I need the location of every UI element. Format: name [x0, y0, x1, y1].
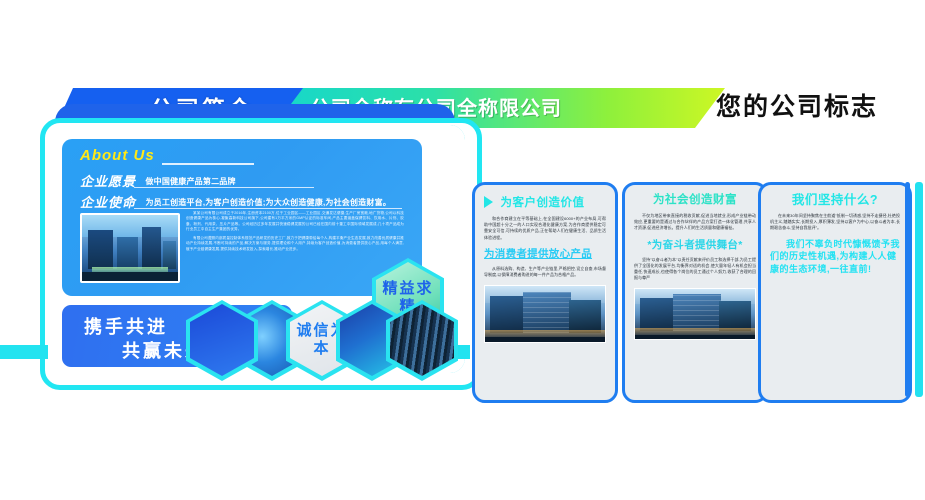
panel-social-wealth[interactable]: 为社会创造财富 不仅为地区带来直接的税收贡献,促进当地就业,形成产业链带动效应,…: [622, 182, 768, 403]
panel-2-body-1: 不仅为地区带来直接的税收贡献,促进当地就业,形成产业链带动效应,更重要的是通过与…: [634, 213, 756, 232]
play-arrow-icon: [484, 196, 493, 208]
panel-3-body-1: 在未来30年间坚持聚焦在主航道"抵制一切诱惑,坚持不走捷径,杜绝投机主义,踏踏实…: [770, 213, 900, 232]
panel-1-subheading: 为消费者提供放心产品: [484, 247, 606, 261]
cyan-tail-left: [0, 345, 48, 359]
panel-1-inner: 为客户创造价值 和合作商建立在平等基础上,在全国建设6000+的产业布局,可帮助…: [475, 185, 615, 400]
vision-label: 企业愿景: [80, 171, 136, 190]
about-us-card: About Us 企业愿景 做中国健康产品第二品牌 企业使命 为员工创造平台,为…: [62, 139, 422, 296]
panel-customer-value[interactable]: 为客户创造价值 和合作商建立在平等基础上,在全国建设6000+的产业布局,可帮助…: [472, 182, 618, 403]
poster-canvas: 公司简介 公司全称有公司全称限公司 您的公司标志 About Us 企业愿景 做…: [0, 0, 925, 500]
photo-building-3: [142, 227, 161, 269]
panel-3-highlight: 我们不辜负时代慷慨馈予我们的历史性机遇,为构建人人健康的生态环境,一往直前!: [770, 238, 900, 276]
mission-value: 为员工创造平台,为客户创造价值;为大众创造健康,为社会创造财富。: [140, 197, 391, 208]
panel-2-photo-ground: [635, 335, 755, 340]
right-edge-blue-bar: [905, 182, 910, 397]
slogan-line-1: 携手共进: [84, 313, 168, 339]
right-edge-cyan-bar: [915, 182, 923, 397]
panel-1-photo-building-left: [490, 296, 526, 333]
panel-1-photo: [484, 285, 606, 343]
panel-1-photo-windows: [523, 292, 571, 333]
panel-2-photo-windows: [673, 294, 721, 331]
panel-2-body-2: 坚持"以奋斗者为本"以责任贡献来评价员工和选择干部,为员工提供了全国化的发展平台…: [634, 257, 756, 282]
panel-1-heading-row: 为客户创造价值: [484, 193, 606, 211]
mission-underline: [134, 208, 402, 209]
photo-building-4: [163, 241, 176, 269]
panel-3-inner: 我们坚持什么? 在未来30年间坚持聚焦在主航道"抵制一切诱惑,坚持不走捷径,杜绝…: [761, 185, 909, 400]
about-us-label: About Us: [80, 147, 155, 164]
photo-ground: [82, 272, 178, 281]
company-paragraph-1: 某某公司有限公司成立于2016年,注册资本2100万,位于工业园区——工业园区,…: [186, 211, 404, 232]
vision-row: 企业愿景 做中国健康产品第二品牌: [80, 171, 236, 191]
panel-1-body-2: 从原料选购、构造、生产等产业链里,严格把控,设立自查,市场督导制度,以保障消费者…: [484, 266, 606, 278]
panel-2-heading: 为社会创造财富: [634, 193, 756, 208]
logo-placeholder: 您的公司标志: [716, 86, 916, 128]
photo-building-1: [88, 230, 113, 270]
mission-row: 企业使命 为员工创造平台,为客户创造价值;为大众创造健康,为社会创造财富。: [80, 192, 391, 212]
panel-1-photo-building-right: [569, 300, 601, 334]
vision-underline: [134, 187, 314, 188]
panel-1-photo-ground: [485, 337, 605, 342]
photo-building-2: [117, 237, 138, 269]
panel-1-body-1: 和合作商建立在平等基础上,在全国建设6000+的产业布局,可帮助中国超十分之一的…: [484, 216, 606, 241]
about-us-underline: [162, 163, 254, 165]
company-paragraph-2: 有限公司遵照内部质量控制体系规范产品研发的历史工厂,致力于把健康带给每个人,构建…: [186, 236, 404, 252]
panel-3-heading: 我们坚持什么?: [770, 193, 900, 208]
panel-2-subheading: *为奋斗者提供舞台*: [634, 238, 756, 252]
panel-2-photo-building-left: [640, 298, 676, 331]
panel-2-photo-building-right: [719, 301, 751, 331]
panel-our-principles[interactable]: 我们坚持什么? 在未来30年间坚持聚焦在主航道"抵制一切诱惑,坚持不走捷径,杜绝…: [758, 182, 912, 403]
office-building-photo: [80, 213, 180, 283]
company-description: 某某公司有限公司成立于2016年,注册资本2100万,位于工业园区——工业园区,…: [186, 211, 404, 256]
panel-1-heading: 为客户创造价值: [500, 196, 584, 211]
mission-label: 企业使命: [80, 192, 136, 211]
panel-2-photo: [634, 288, 756, 340]
vision-value: 做中国健康产品第二品牌: [140, 176, 235, 187]
panel-2-inner: 为社会创造财富 不仅为地区带来直接的税收贡献,促进当地就业,形成产业链带动效应,…: [625, 185, 765, 400]
